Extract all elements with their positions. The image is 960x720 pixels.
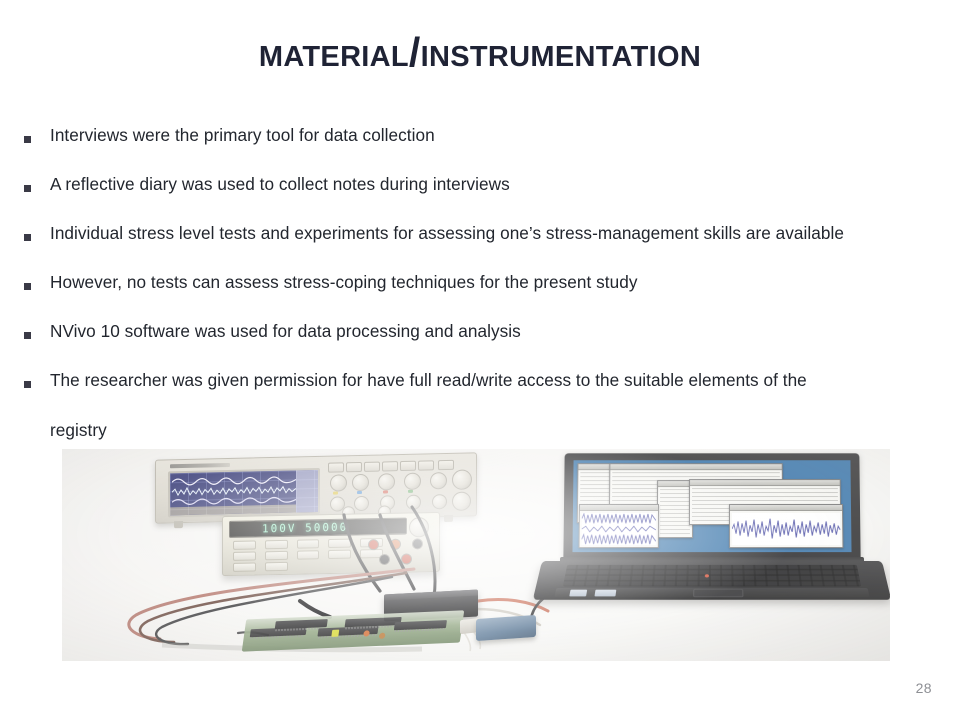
laptop-base <box>533 561 890 600</box>
yellow-capacitor <box>331 630 339 637</box>
list-item: Individual stress level tests and experi… <box>24 225 936 274</box>
square-bullet-icon <box>24 185 31 192</box>
bullet-list: Interviews were the primary tool for dat… <box>24 127 936 441</box>
dip-chip <box>345 617 402 627</box>
waveform-plot <box>582 513 656 545</box>
list-item: Interviews were the primary tool for dat… <box>24 127 936 176</box>
square-bullet-icon <box>24 381 31 388</box>
laptop-lid <box>563 453 860 561</box>
list-item: The researcher was given permission for … <box>24 372 936 389</box>
laptop-sticker <box>594 590 616 597</box>
square-bullet-icon <box>24 332 31 339</box>
list-item: NVivo 10 software was used for data proc… <box>24 323 936 372</box>
orange-capacitor <box>379 633 386 639</box>
list-item-label: NVivo 10 software was used for data proc… <box>50 323 936 340</box>
tool-palette-window[interactable] <box>657 480 693 538</box>
waveform-window[interactable] <box>579 504 659 548</box>
window-body <box>658 487 692 537</box>
list-item-label: Interviews were the primary tool for dat… <box>50 127 936 144</box>
signal-window[interactable] <box>729 504 843 548</box>
blue-adapter-module <box>476 615 536 641</box>
laptop-sticker <box>569 590 587 597</box>
square-bullet-icon <box>24 234 31 241</box>
square-bullet-icon <box>24 136 31 143</box>
square-bullet-icon <box>24 283 31 290</box>
list-item-label: The researcher was given permission for … <box>50 372 936 389</box>
laptop-computer <box>542 453 882 629</box>
laptop-keyboard[interactable] <box>563 565 861 587</box>
text-lines <box>660 489 690 535</box>
slide-canvas: Material/Instrumentation Interviews were… <box>0 0 960 720</box>
page-title: Material/Instrumentation <box>0 30 960 75</box>
laptop-screen <box>572 460 851 552</box>
page-number: 28 <box>916 680 932 696</box>
list-item-label: However, no tests can assess stress-copi… <box>50 274 936 291</box>
list-item-label: Individual stress level tests and experi… <box>50 225 936 242</box>
laptop-touchpad[interactable] <box>693 589 743 597</box>
list-item: A reflective diary was used to collect n… <box>24 176 936 225</box>
list-item-label: A reflective diary was used to collect n… <box>50 176 936 193</box>
lab-setup-photo: 100V 50000 <box>62 449 890 661</box>
window-body <box>580 511 658 547</box>
dip-chip <box>394 620 447 630</box>
list-item-continuation: registry <box>50 420 936 441</box>
list-item: However, no tests can assess stress-copi… <box>24 274 936 323</box>
window-body <box>730 511 842 547</box>
noise-plot <box>732 513 840 545</box>
